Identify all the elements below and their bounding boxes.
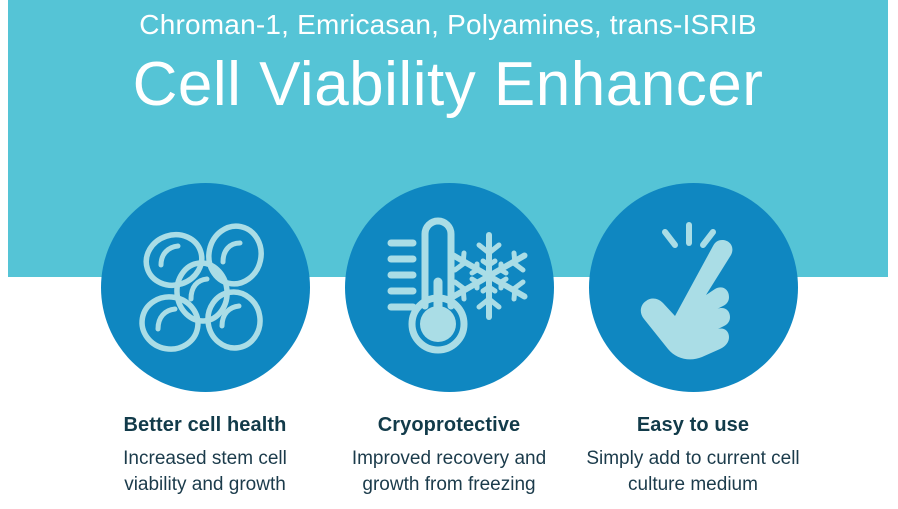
click-motion-lines bbox=[665, 225, 713, 245]
icon-circle-better-cell-health bbox=[101, 183, 310, 392]
infographic-page: Chroman-1, Emricasan, Polyamines, trans-… bbox=[0, 0, 898, 509]
feature-title: Better cell health bbox=[124, 413, 287, 437]
thermometer-snowflake-icon bbox=[369, 210, 529, 365]
icon-circle-easy-to-use bbox=[589, 183, 798, 392]
pointing-hand-click-icon bbox=[618, 213, 768, 363]
cell-cluster-icon bbox=[130, 213, 280, 363]
feature-title: Easy to use bbox=[637, 413, 749, 437]
feature-description: Improved recovery and growth from freezi… bbox=[342, 446, 557, 498]
header-subtitle: Chroman-1, Emricasan, Polyamines, trans-… bbox=[8, 6, 888, 44]
hand-shape bbox=[641, 240, 733, 359]
snowflake-glyph bbox=[454, 235, 525, 317]
feature-item-cryoprotective: Cryoprotective Improved recovery and gro… bbox=[344, 183, 554, 498]
feature-list: Better cell health Increased stem cell v… bbox=[0, 183, 898, 498]
page-title: Cell Viability Enhancer bbox=[8, 48, 888, 122]
thermometer-bulb-fill bbox=[420, 306, 456, 342]
feature-description: Simply add to current cell culture mediu… bbox=[586, 446, 801, 498]
feature-title: Cryoprotective bbox=[378, 413, 521, 437]
feature-item-better-cell-health: Better cell health Increased stem cell v… bbox=[100, 183, 310, 498]
feature-item-easy-to-use: Easy to use Simply add to current cell c… bbox=[588, 183, 798, 498]
icon-circle-cryoprotective bbox=[345, 183, 554, 392]
feature-description: Increased stem cell viability and growth bbox=[98, 446, 313, 498]
